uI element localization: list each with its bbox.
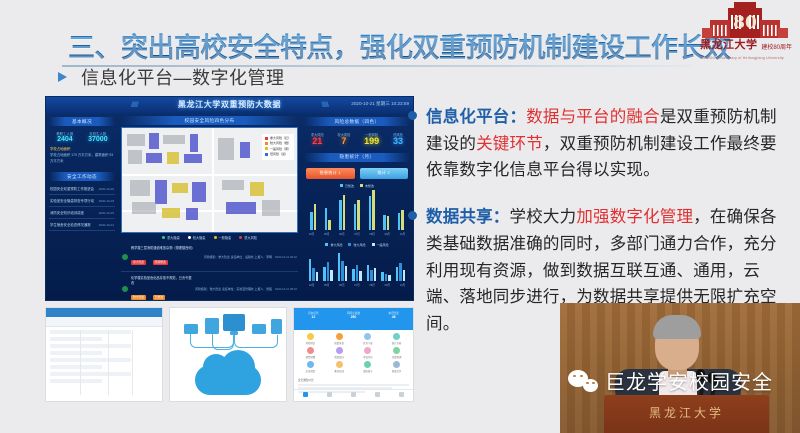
alert-tags: 较大隐患 已整改 xyxy=(131,285,167,301)
chart-2-bars xyxy=(304,249,410,281)
arrow-right-icon xyxy=(58,72,67,82)
thumbnail-row: 待办任务 12 风险点总数 260 本月隐患 48 风险辨识 隐患排查 任务 xyxy=(45,307,414,402)
connector-line xyxy=(234,335,278,348)
x-tick: 08月 xyxy=(369,232,374,236)
bar-group xyxy=(325,208,331,230)
dashboard-right-column: 风险总数据（四色） 重大风险 21 较大风险 7 一般风险 199 xyxy=(301,114,413,301)
laptop-icon xyxy=(184,324,198,334)
dashboard-screenshot: /////// 黑龙江大学双重预防大数据 \\\\\\\ 2020-10-21 … xyxy=(45,96,414,301)
map-legend-item: 低风险（蓝） xyxy=(265,152,291,157)
legend-item: 一般风险 xyxy=(372,243,389,247)
risk-value: 7 xyxy=(338,137,351,147)
alert-tags: 重大隐患 限期整改 xyxy=(131,250,170,267)
decor-slashes-left: /////// xyxy=(131,102,138,109)
news-date: 2020-10-12 xyxy=(99,223,114,227)
podium-text: 黑龙江大学 xyxy=(604,404,769,421)
x-tick: 07月 xyxy=(354,232,359,236)
alert-title: 化学楼实验室危化品存放不规范，已责令整改 xyxy=(131,275,192,285)
news-title: 校园安全双重预防工作推进会 xyxy=(50,186,94,191)
mobile-grid-item[interactable]: 预警提醒 xyxy=(297,347,324,359)
dashboard-center-column: 校园安全风险四色分布 xyxy=(118,114,301,301)
map-foot-legend-item: 较大隐患 xyxy=(188,235,206,240)
alert-time: 2020-10-21 08:16 xyxy=(275,287,297,291)
bar-group xyxy=(381,272,391,281)
mobile-tab-tasks[interactable]: 任务 xyxy=(318,390,342,401)
bar-group xyxy=(398,210,404,230)
mobile-tab-profile[interactable]: 我的 xyxy=(389,390,413,401)
panel-header-risk-label: 风险总数据（四色） xyxy=(335,119,380,125)
bar-group xyxy=(309,259,319,281)
mobile-tab-home[interactable]: 首页 xyxy=(294,390,318,401)
list-item[interactable]: 实验室安全隐患排查专项行动 2020-10-18 xyxy=(49,195,115,207)
x-tick: 09月 xyxy=(385,232,390,236)
alert-row[interactable]: 教学楼三层消防通道堆放杂物（物理楼西侧） 重大隐患 限期整改 风险级别：重大隐患… xyxy=(121,242,298,272)
map-foot-legend-item: 一般隐患 xyxy=(214,235,232,240)
panel-header-risk: 风险总数据（四色） xyxy=(304,117,410,126)
thumbnail-table-app xyxy=(45,307,163,402)
alert-main: 化学楼实验室危化品存放不规范，已责令整改 较大隐患 已整改 xyxy=(131,275,192,301)
tab-hazard-1[interactable]: 隐患统计 1 xyxy=(306,168,355,179)
mobile-grid-item[interactable]: 制度文件 xyxy=(383,361,410,373)
campus-area-title: 学校占地面积 xyxy=(50,147,70,151)
chart-2-xlabels: 04月 05月 06月 07月 08月 09月 10月 xyxy=(304,281,410,287)
bar-group xyxy=(323,262,333,281)
risk-stat-general: 一般风险 199 xyxy=(364,132,379,147)
x-tick: 06月 xyxy=(339,232,344,236)
mobile-grid-item[interactable]: 台账管理 xyxy=(383,347,410,359)
slide-header: 三、突出高校安全特点，强化双重预防机制建设工作长效 xyxy=(0,10,800,60)
mobile-app-tabbar: 首页 任务 消息 统计 我的 xyxy=(294,389,413,401)
bullet-dot-icon xyxy=(408,211,417,220)
dashboard-datetime: 2020-10-21 星期三 10:23:59 xyxy=(351,101,409,107)
bullet-highlight: 数据与平台的融合 xyxy=(526,108,660,126)
news-title: 实验室安全隐患排查专项行动 xyxy=(50,198,94,203)
tab-hazard-2[interactable]: 统计 2 xyxy=(360,168,409,179)
mobile-grid-item[interactable]: 值班值守 xyxy=(355,361,382,373)
legend-item: 已整改 xyxy=(340,184,354,188)
university-logo: 80 黑龙江大学 建校80周年 The 80th Anniversary of … xyxy=(698,2,794,64)
x-tick: 05月 xyxy=(324,232,329,236)
dashboard-body: 基本概况 教职工人数 2404 在校生人数 37000 学校占地面积 学校占地面… xyxy=(46,114,413,301)
bar-group xyxy=(352,265,362,281)
alert-row[interactable]: 化学楼实验室危化品存放不规范，已责令整改 较大隐患 已整改 风险级别：较大隐患 … xyxy=(121,272,298,301)
risk-value: 21 xyxy=(311,137,324,147)
mobile-grid-item[interactable]: 考核评价 xyxy=(355,347,382,359)
x-tick: 04月 xyxy=(309,283,314,287)
laptop-icon xyxy=(252,324,266,334)
risk-stat-low: 低风险 33 xyxy=(393,132,403,147)
panel-header-news: 安全工作动态 xyxy=(49,172,115,181)
bar-group xyxy=(310,204,316,230)
page-title: 三、突出高校安全特点，强化双重预防机制建设工作长效 xyxy=(68,26,731,65)
bullet-body: 学校大力 xyxy=(510,208,577,226)
news-title: 学生宿舍安全检查情况通报 xyxy=(50,222,91,227)
mobile-grid-item[interactable]: 任务下发 xyxy=(355,333,382,345)
speaker-hair xyxy=(653,315,701,339)
mobile-grid-item[interactable]: 督查督办 xyxy=(326,347,353,359)
status-badge: 重大隐患 xyxy=(131,260,146,265)
news-date: 2020-10-20 xyxy=(99,187,114,191)
chart-tabs: 隐患统计 1 统计 2 xyxy=(304,164,410,182)
presentation-slide: 三、突出高校安全特点，强化双重预防机制建设工作长效 80 黑龙江大学 建校8 xyxy=(0,0,800,433)
bullet-item-platform: 信息化平台：数据与平台的融合是双重预防机制建设的关键环节，双重预防机制建设工作最… xyxy=(408,104,793,184)
x-tick: 06月 xyxy=(339,283,344,287)
mobile-tab-messages[interactable]: 消息 xyxy=(342,390,366,401)
kpi-students: 在校生人数 37000 xyxy=(88,131,107,143)
kpi-staff: 教职工人数 2404 xyxy=(56,131,73,143)
mobile-stat: 本月隐患 48 xyxy=(388,311,398,319)
cloud-icon xyxy=(195,365,261,395)
tablet-icon xyxy=(205,318,219,334)
news-date: 2020-10-15 xyxy=(99,211,114,215)
bar-group xyxy=(367,265,377,281)
risk-value: 199 xyxy=(364,137,379,147)
chart-1-legend: 已整改 未整改 xyxy=(304,182,410,190)
dashboard-left-column: 基本概况 教职工人数 2404 在校生人数 37000 学校占地面积 学校占地面… xyxy=(46,114,118,301)
risk-value: 33 xyxy=(393,137,403,147)
thumbnail-cloud-diagram xyxy=(169,307,287,402)
status-badge: 较大隐患 xyxy=(131,295,146,300)
panel-header-news-label: 安全工作动态 xyxy=(67,174,97,180)
mobile-tab-stats[interactable]: 统计 xyxy=(365,390,389,401)
mobile-stat: 待办任务 12 xyxy=(308,311,318,319)
campus-risk-map[interactable]: 重大风险（红） 较大风险（橙） 一般风险（黄） 低风险（蓝） xyxy=(121,127,298,233)
bar-group xyxy=(338,253,348,281)
panel-header-map-label: 校园安全风险四色分布 xyxy=(185,118,235,124)
bar-group xyxy=(339,195,345,230)
podium: 黑龙江大学 xyxy=(604,395,769,433)
slide-subtitle: 信息化平台—数字化管理 xyxy=(58,64,285,90)
alert-time: 2020-10-21 09:42 xyxy=(275,255,297,259)
risk-stats-row: 重大风险 21 较大风险 7 一般风险 199 低风险 33 xyxy=(304,128,410,149)
decor-slashes-right: \\\\\\\ xyxy=(321,102,328,109)
x-tick: 09月 xyxy=(385,283,390,287)
panel-header-overview: 基本概况 xyxy=(49,117,115,126)
kpi-row: 教职工人数 2404 在校生人数 37000 xyxy=(49,128,115,145)
legend-item: 未整改 xyxy=(360,184,374,188)
mobile-app-grid: 风险辨识 隐患排查 任务下发 统计分析 预警提醒 督查督办 考核评价 台账管理 … xyxy=(294,330,413,376)
panel-header-map: 校园安全风险四色分布 xyxy=(121,116,298,125)
news-title: 消防安全知识培训讲座 xyxy=(50,210,84,215)
alert-main: 教学楼三层消防通道堆放杂物（物理楼西侧） 重大隐患 限期整改 xyxy=(131,245,201,268)
svg-text:80: 80 xyxy=(733,13,757,33)
bar-group xyxy=(396,263,406,281)
campus-area-body: 学校占地面积 179 万平方米，建筑面积 93 万平方米 xyxy=(50,153,113,163)
x-tick: 05月 xyxy=(324,283,329,287)
bar-group xyxy=(369,190,375,230)
risk-stat-high: 较大风险 7 xyxy=(338,132,351,147)
connector-line xyxy=(212,334,234,350)
bar-group xyxy=(354,200,360,230)
news-date: 2020-10-18 xyxy=(99,199,114,203)
kpi-students-value: 37000 xyxy=(88,136,107,143)
watermark-text: 巨龙学安校园安全 xyxy=(605,366,773,395)
bullet-highlight: 关键环节 xyxy=(476,135,543,153)
map-legend: 重大风险（红） 较大风险（橙） 一般风险（黄） 低风险（蓝） xyxy=(262,134,294,160)
x-tick: 07月 xyxy=(354,283,359,287)
watermark: 巨龙学安校园安全 xyxy=(568,366,773,395)
bullet-highlight: 加强数字化管理 xyxy=(576,208,693,226)
mobile-grid-item[interactable]: 统计分析 xyxy=(383,333,410,345)
thumbnail-mobile-app: 待办任务 12 风险点总数 260 本月隐患 48 风险辨识 隐患排查 任务 xyxy=(293,307,414,402)
list-item[interactable]: 校园安全双重预防工作推进会 2020-10-20 xyxy=(49,183,115,195)
bullet-heading: 信息化平台： xyxy=(426,108,526,126)
status-dot-icon xyxy=(122,254,128,260)
subtitle-text: 信息化平台—数字化管理 xyxy=(81,64,285,90)
list-item[interactable]: 消防安全知识培训讲座 2020-10-15 xyxy=(49,207,115,219)
mobile-grid-item[interactable]: 教育培训 xyxy=(326,361,353,373)
phone-icon xyxy=(271,319,282,334)
monitor-icon xyxy=(223,314,245,331)
alert-meta: 风险级别：重大隐患 责任单位：后勤处 上报人：李明 xyxy=(204,255,272,259)
legend-item: 重大风险 xyxy=(325,243,342,247)
presenter-video-overlay: 黑龙江大学 巨龙学安校园安全 xyxy=(560,303,800,433)
map-foot-legend-item: 重大风险 xyxy=(239,235,257,240)
status-badge: 限期整改 xyxy=(153,260,168,265)
map-foot-legend: 重大隐患 较大隐患 一般隐患 重大风险 xyxy=(121,233,298,242)
bar-group xyxy=(383,215,389,230)
table-app-header xyxy=(46,308,162,317)
panel-header-overview-label: 基本概况 xyxy=(72,119,92,125)
mobile-grid-item[interactable]: 风险辨识 xyxy=(297,333,324,345)
x-tick: 10月 xyxy=(400,232,405,236)
chart-1-bars xyxy=(304,190,410,230)
mobile-stat: 风险点总数 260 xyxy=(347,311,360,319)
bullet-dot-icon xyxy=(408,111,417,120)
mobile-app-header: 待办任务 12 风险点总数 260 本月隐患 48 xyxy=(294,308,413,330)
x-tick: 04月 xyxy=(309,232,314,236)
legend-item: 较大风险 xyxy=(348,243,365,247)
panel-header-hazard-stats-label: 隐患统计（月） xyxy=(340,154,375,160)
status-badge: 已整改 xyxy=(153,295,165,300)
chart-2-legend: 重大风险 较大风险 一般风险 xyxy=(304,241,410,249)
alert-meta: 风险级别：较大隐患 责任单位：实验室管理处 上报人：张强 xyxy=(195,287,272,291)
status-dot-icon xyxy=(122,286,128,292)
campus-area-note: 学校占地面积 学校占地面积 179 万平方米，建筑面积 93 万平方米 xyxy=(49,145,115,166)
bullet-text: 信息化平台：数据与平台的融合是双重预防机制建设的关键环节，双重预防机制建设工作最… xyxy=(426,104,793,184)
chart-1-xlabels: 04月 05月 06月 07月 08月 09月 10月 xyxy=(304,230,410,236)
table-app-toolbar xyxy=(46,317,162,327)
x-tick: 10月 xyxy=(400,283,405,287)
logo-anniversary: 建校80周年 xyxy=(761,42,792,51)
panel-header-hazard-stats: 隐患统计（月） xyxy=(304,153,410,162)
bullet-heading: 数据共享： xyxy=(426,208,510,226)
kpi-staff-value: 2404 xyxy=(56,136,73,143)
list-item[interactable]: 学生宿舍安全检查情况通报 2020-10-12 xyxy=(49,219,115,231)
mobile-grid-item[interactable]: 应急预案 xyxy=(297,361,324,373)
logo-en-name: The 80th Anniversary of Heilongjiang Uni… xyxy=(699,56,784,60)
dashboard-title: 黑龙江大学双重预防大数据 xyxy=(178,99,281,110)
mobile-grid-item[interactable]: 隐患排查 xyxy=(326,333,353,345)
dashboard-topbar: /////// 黑龙江大学双重预防大数据 \\\\\\\ 2020-10-21 … xyxy=(46,97,413,114)
x-tick: 08月 xyxy=(369,283,374,287)
map-foot-legend-item: 重大隐患 xyxy=(162,235,180,240)
wechat-icon xyxy=(568,370,598,392)
logo-cn-name: 黑龙江大学 xyxy=(700,36,758,52)
risk-stat-major: 重大风险 21 xyxy=(311,132,324,147)
